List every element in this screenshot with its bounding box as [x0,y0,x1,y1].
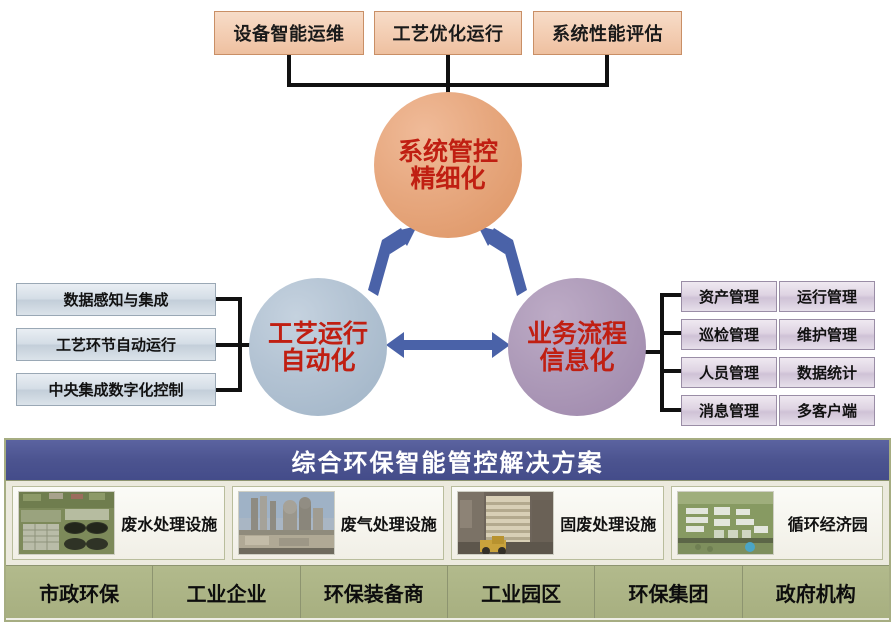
right-bracket [662,295,686,410]
facility-card-0[interactable]: 废水处理设施 [12,486,225,560]
segment-cell-4[interactable]: 环保集团 [595,566,742,618]
right-box-0-1[interactable]: 运行管理 [779,281,875,312]
top-box-label: 工艺优化运行 [393,20,504,46]
right-box-label: 运行管理 [797,286,857,307]
circle-system-control[interactable]: 系统管控 精细化 [374,92,522,238]
wastewater-plant-image [18,491,115,555]
circle-business-informatization[interactable]: 业务流程 信息化 [508,278,646,416]
solid-waste-facility-image [457,491,554,555]
arrow-left-right [386,332,510,358]
segment-label: 市政环保 [39,578,119,607]
top-box-0[interactable]: 设备智能运维 [214,11,364,55]
circle-line-2: 精细化 [410,165,485,192]
circle-line-2: 自动化 [280,347,355,374]
right-box-label: 人员管理 [699,362,759,383]
right-box-3-1[interactable]: 多客户端 [779,395,875,426]
facility-card-2[interactable]: 固废处理设施 [451,486,664,560]
right-box-label: 维护管理 [797,324,857,345]
right-box-1-0[interactable]: 巡检管理 [681,319,777,350]
segment-label: 环保集团 [628,578,708,607]
customer-segment-row: 市政环保 工业企业 环保装备商 工业园区 环保集团 政府机构 [6,565,889,618]
solution-banner: 综合环保智能管控解决方案 [6,440,889,481]
right-box-2-0[interactable]: 人员管理 [681,357,777,388]
circle-process-automation[interactable]: 工艺运行 自动化 [249,278,387,416]
solution-panel: 综合环保智能管控解决方案 [4,438,891,622]
right-box-label: 多客户端 [797,400,857,421]
right-box-label: 资产管理 [699,286,759,307]
segment-cell-1[interactable]: 工业企业 [153,566,300,618]
segment-cell-2[interactable]: 环保装备商 [301,566,448,618]
circular-economy-park-image [677,491,774,555]
segment-cell-0[interactable]: 市政环保 [6,566,153,618]
segment-label: 工业企业 [186,578,266,607]
segment-cell-3[interactable]: 工业园区 [448,566,595,618]
left-box-label: 数据感知与集成 [63,289,168,310]
top-bracket [289,55,607,85]
right-box-3-0[interactable]: 消息管理 [681,395,777,426]
segment-label: 环保装备商 [324,578,424,607]
left-box-1[interactable]: 工艺环节自动运行 [16,328,216,361]
right-box-1-1[interactable]: 维护管理 [779,319,875,350]
circle-line-2: 信息化 [539,347,614,374]
flue-gas-stacks-image [238,491,335,555]
facility-card-row: 废水处理设施 [6,481,889,565]
arrow-left-to-top [368,226,417,296]
left-bracket [215,299,240,390]
left-box-label: 工艺环节自动运行 [56,334,176,355]
facility-card-label: 循环经济园 [774,511,883,535]
segment-cell-5[interactable]: 政府机构 [743,566,889,618]
circle-line-1: 工艺运行 [268,320,368,347]
top-box-label: 系统性能评估 [552,20,663,46]
right-box-2-1[interactable]: 数据统计 [779,357,875,388]
arrow-right-to-top [478,226,527,296]
facility-card-label: 废水处理设施 [115,511,224,535]
segment-label: 政府机构 [776,578,856,607]
solution-banner-title: 综合环保智能管控解决方案 [292,443,604,478]
top-box-2[interactable]: 系统性能评估 [533,11,682,55]
left-box-label: 中央集成数字化控制 [48,379,183,400]
facility-card-label: 废气处理设施 [335,511,444,535]
segment-label: 工业园区 [481,578,561,607]
diagram-root: 设备智能运维 工艺优化运行 系统性能评估 系统管控 精细化 工艺运行 自动化 业… [0,0,895,626]
top-box-label: 设备智能运维 [234,20,345,46]
left-box-2[interactable]: 中央集成数字化控制 [16,373,216,406]
right-box-0-0[interactable]: 资产管理 [681,281,777,312]
circle-line-1: 系统管控 [398,138,498,165]
facility-card-1[interactable]: 废气处理设施 [232,486,445,560]
top-box-1[interactable]: 工艺优化运行 [374,11,522,55]
right-box-label: 消息管理 [699,400,759,421]
facility-card-label: 固废处理设施 [554,511,663,535]
facility-card-3[interactable]: 循环经济园 [671,486,884,560]
circle-line-1: 业务流程 [527,320,627,347]
right-box-label: 数据统计 [797,362,857,383]
right-box-label: 巡检管理 [699,324,759,345]
left-box-0[interactable]: 数据感知与集成 [16,283,216,316]
